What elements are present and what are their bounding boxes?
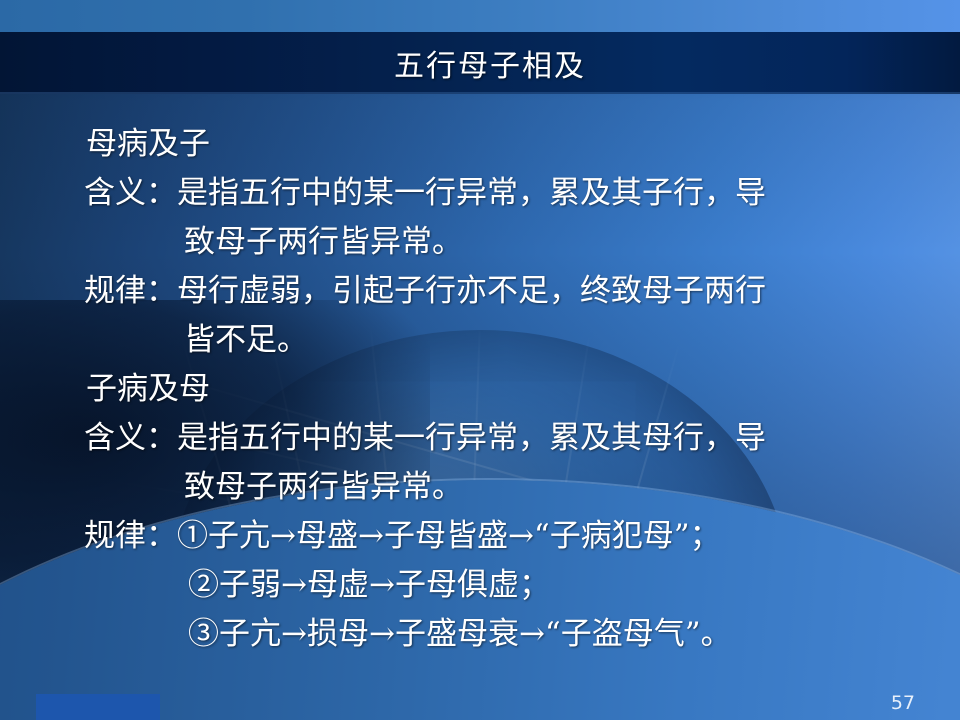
definition-line: 含义：是指五行中的某一行异常，累及其子行，导: [0, 169, 960, 218]
page-number: 57: [891, 692, 915, 714]
section-heading: 母病及子: [0, 120, 960, 169]
definition-cont: 致母子两行皆异常。: [0, 218, 960, 267]
slide: 五行母子相及 母病及子 含义：是指五行中的某一行异常，累及其子行，导 致母子两行…: [0, 0, 960, 720]
definition-line: 含义：是指五行中的某一行异常，累及其母行，导: [0, 414, 960, 463]
rule-cont: 皆不足。: [0, 316, 960, 365]
top-strip: [0, 0, 960, 32]
title-band: 五行母子相及: [0, 32, 960, 94]
definition-cont: 致母子两行皆异常。: [0, 463, 960, 512]
rule-line: 规律：母行虚弱，引起子行亦不足，终致母子两行: [0, 267, 960, 316]
slide-body: 母病及子 含义：是指五行中的某一行异常，累及其子行，导 致母子两行皆异常。 规律…: [0, 120, 960, 659]
section-heading: 子病及母: [0, 365, 960, 414]
rule-line: 规律：①子亢→母盛→子母皆盛→“子病犯母”；: [0, 512, 960, 561]
footer-accent-box: [36, 694, 160, 720]
rule-item: ②子弱→母虚→子母俱虚；: [0, 561, 960, 610]
rule-item: ③子亢→损母→子盛母衰→“子盗母气”。: [0, 610, 960, 659]
page-title: 五行母子相及: [394, 41, 586, 85]
